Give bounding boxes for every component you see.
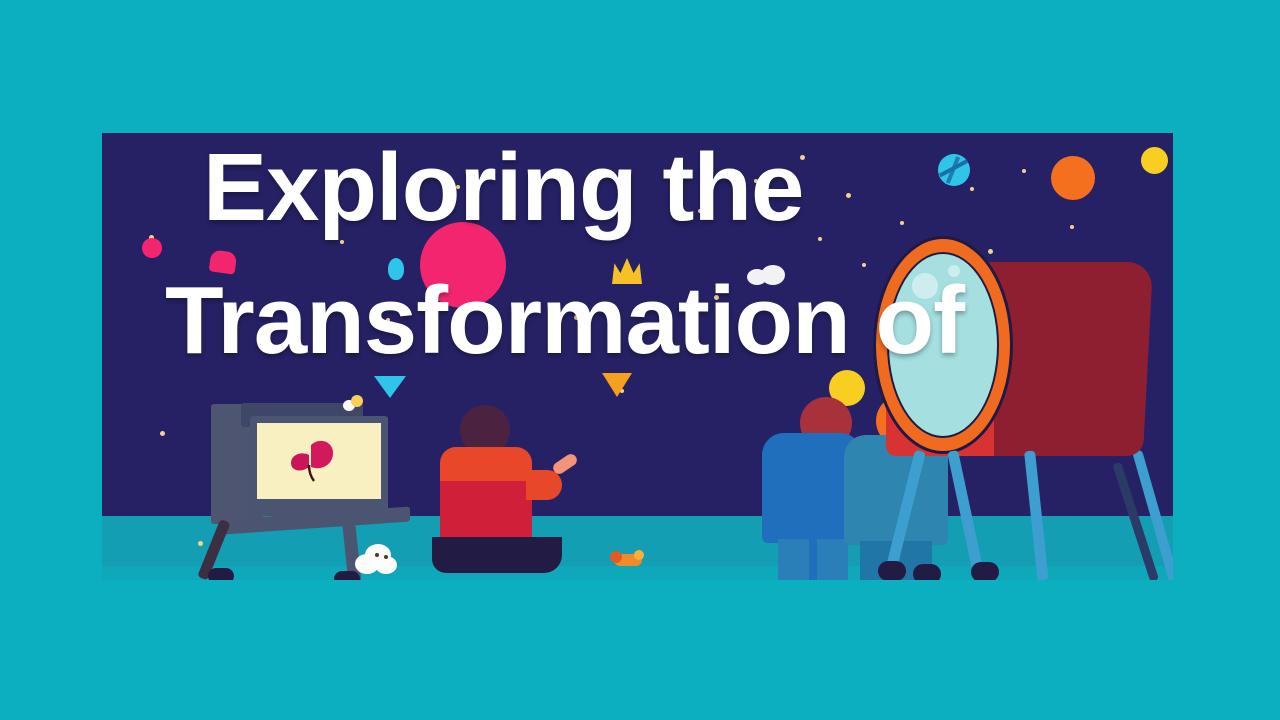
star-icon [160,431,165,436]
cloud-pair-icon [747,265,789,285]
cloud-sheep-icon [355,544,399,576]
easel-canvas-surface [257,423,381,499]
star-icon [386,318,390,322]
star-icon [1070,225,1074,229]
star-icon [846,193,851,198]
triangle-orange [602,373,632,397]
paint-brush-icon [551,452,579,476]
camera-lens-glass [887,252,999,438]
planet-pink-large [420,222,506,308]
visitor-left-leg-gap [809,539,817,580]
planet-orange [1051,156,1095,200]
dot-pink-small [142,238,162,258]
lens-highlight-large [912,273,938,299]
painter-lower-body [440,481,532,543]
star-icon [198,541,203,546]
star-icon [862,263,866,267]
illustration-panel: Exploring the Transformation of [102,133,1173,580]
star-icon [714,295,719,300]
lens-highlight-small [948,265,960,277]
tripod-foot-3 [971,562,999,580]
easel-foot-left [208,568,234,580]
star-icon [900,221,904,225]
title-line-1: Exploring the [203,140,803,236]
triangle-cyan [374,376,406,398]
painter-arm [526,470,562,500]
star-icon [698,209,702,213]
planet-yellow-small [1141,147,1168,174]
star-icon [988,249,993,254]
star-icon [818,237,822,241]
star-icon [456,185,460,189]
illustration-canvas: Exploring the Transformation of [0,0,1280,720]
tripod-foot-2 [913,564,941,580]
butterfly-flutter-icon [343,394,365,412]
star-icon [340,240,344,244]
small-fox-critter-icon [610,550,644,568]
title-line-2: Transformation of [165,273,964,369]
star-icon [800,155,805,160]
planet-cyan [938,154,970,186]
floor-bottom-strip [102,566,1173,580]
star-icon [970,187,974,191]
crown-yellow [612,258,642,284]
tripod-foot-1 [878,561,906,580]
triangle-pink [209,249,238,274]
star-icon [1022,169,1026,173]
star-icon [574,315,579,320]
painter-knee [432,537,478,573]
butterfly-artwork-icon [257,423,381,499]
star-icon [754,179,758,183]
droplet-cyan [388,258,404,280]
